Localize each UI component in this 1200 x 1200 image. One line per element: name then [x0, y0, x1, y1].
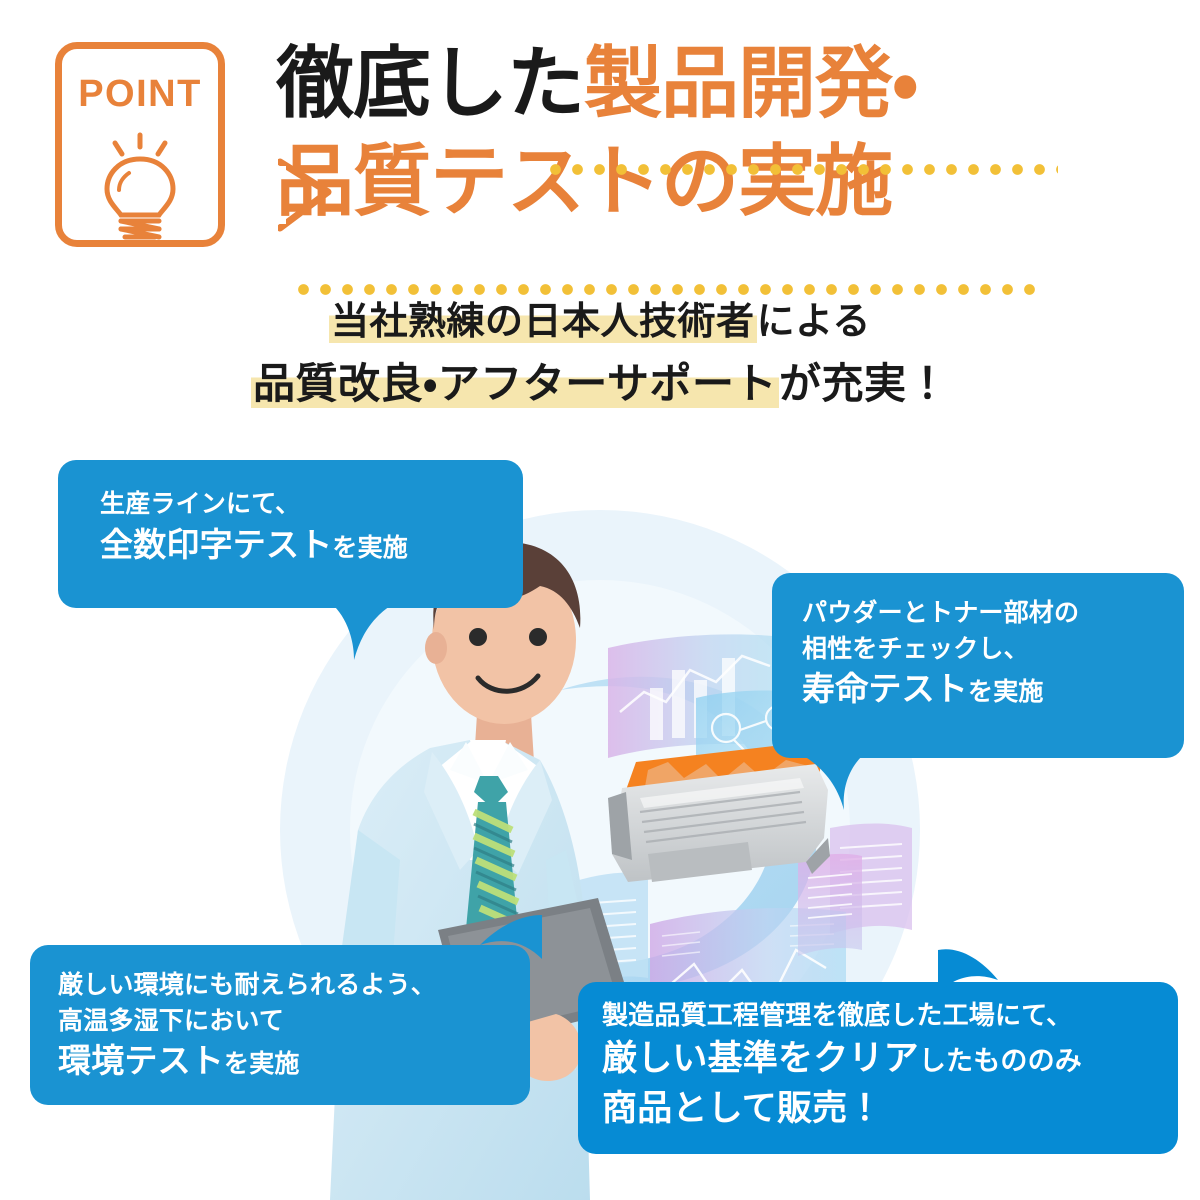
subtitle-line1-highlight: 当社熟練の日本人技術者	[329, 299, 757, 343]
subtitle-line2-plain: が充実！	[779, 359, 949, 408]
headline-line-1: 徹底した製品開発・	[276, 36, 1076, 134]
bubble-print-test-strong: 全数印字テスト	[100, 525, 332, 564]
headline-line1-orange: 製品開発・	[584, 39, 918, 129]
bubble-environment-test-tail-shape	[466, 911, 542, 959]
lightbulb-icon	[62, 129, 218, 249]
bubble-life-test-line1: パウダーとトナー部材の	[802, 595, 1184, 631]
subtitle-line-1: 当社熟練の日本人技術者による	[0, 292, 1200, 351]
bubble-environment-test-line3: 環境テストを実施	[58, 1038, 530, 1085]
bubble-environment-test-line1: 厳しい環境にも耐えられるよう、	[58, 967, 530, 1003]
headline-line1-black: 徹底した	[276, 39, 584, 129]
bubble-print-test-line1: 生産ラインにて、	[100, 486, 523, 522]
headline: 徹底した製品開発・ 品質テストの実施	[276, 36, 1076, 231]
report-panel	[798, 854, 862, 956]
bubble-life-test-tail-shape	[788, 756, 862, 812]
bubble-print-test: 生産ラインにて、 全数印字テストを実施	[58, 460, 523, 608]
point-badge-label: POINT	[62, 73, 218, 116]
headline-dot-rule-1	[550, 164, 1058, 175]
bubble-print-test-tail: を実施	[332, 533, 408, 562]
headline-line-2: 品質テストの実施	[276, 134, 1076, 232]
bubble-factory-standard: 製造品質工程管理を徹底した工場にて、 厳しい基準をクリアしたもののみ 商品として…	[578, 982, 1178, 1154]
subtitle-line1-plain: による	[757, 299, 871, 343]
bubble-print-test-tail-shape	[334, 606, 404, 662]
bubble-factory-standard-line2: 厳しい基準をクリアしたもののみ	[602, 1035, 1178, 1085]
subtitle-line-2: 品質改良・アフターサポートが充実！	[0, 351, 1200, 416]
bubble-print-test-line2: 全数印字テストを実施	[100, 522, 523, 569]
bubble-life-test-line3: 寿命テストを実施	[802, 666, 1184, 713]
bubble-environment-test-strong: 環境テスト	[58, 1041, 224, 1080]
bubble-factory-standard-tail: したもののみ	[919, 1046, 1082, 1077]
bubble-factory-standard-line3: 商品として販売！	[602, 1085, 1178, 1135]
bubble-factory-standard-tail-shape	[930, 942, 1002, 994]
bubble-life-test-tail: を実施	[968, 677, 1044, 706]
bubble-factory-standard-strong: 厳しい基準をクリア	[602, 1039, 919, 1079]
engineer-eye-right	[529, 628, 547, 646]
infographic-page: POINT	[0, 0, 1200, 1200]
point-badge: POINT	[55, 42, 225, 247]
headline-line2-orange: 品質テストの実施	[276, 137, 892, 227]
bubble-environment-test: 厳しい環境にも耐えられるよう、 高温多湿下において 環境テストを実施	[30, 945, 530, 1105]
engineer-eye-left	[469, 628, 487, 646]
subtitle-line2-highlight: 品質改良・アフターサポート	[251, 359, 779, 408]
subtitle: 当社熟練の日本人技術者による 品質改良・アフターサポートが充実！	[0, 292, 1200, 416]
bubble-factory-standard-line1: 製造品質工程管理を徹底した工場にて、	[602, 998, 1178, 1035]
bubble-environment-test-line2: 高温多湿下において	[58, 1003, 530, 1039]
bubble-life-test-line2: 相性をチェックし、	[802, 631, 1184, 667]
bubble-environment-test-tail: を実施	[224, 1049, 300, 1078]
bubble-life-test: パウダーとトナー部材の 相性をチェックし、 寿命テストを実施	[772, 573, 1184, 758]
bubble-life-test-strong: 寿命テスト	[802, 669, 968, 708]
